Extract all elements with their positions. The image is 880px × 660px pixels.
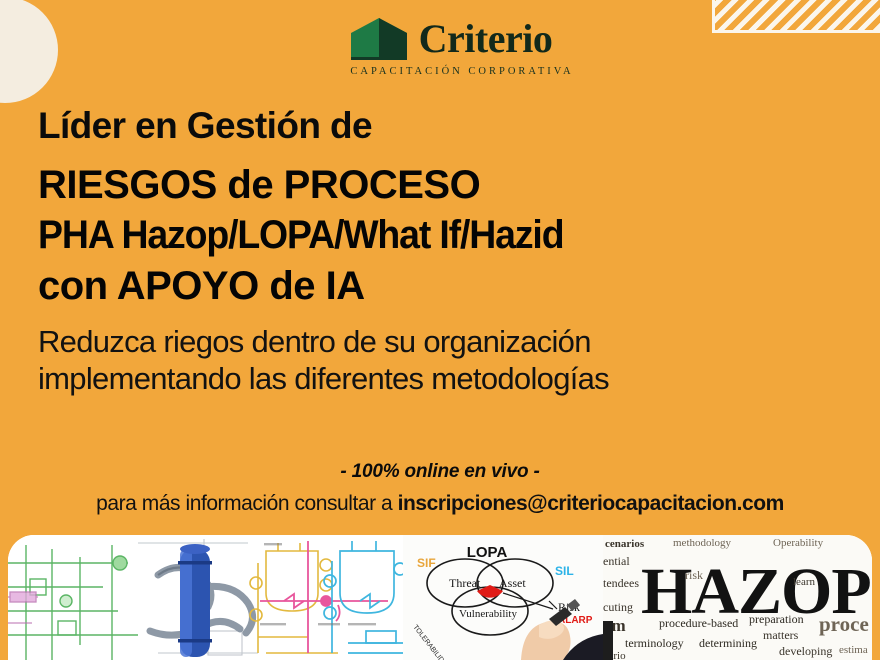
headline-main: RIESGOS de PROCESO PHA Hazop/LOPA/What I… [38, 160, 848, 312]
cloud-word-13: terminology [625, 636, 684, 650]
hazop-word-cloud-panel: cenarios methodology Operability ential … [603, 535, 872, 660]
headline-kicker: Líder en Gestión de [38, 104, 848, 148]
cloud-word-9: cuting [603, 600, 633, 614]
promo-text: - 100% online en vivo - [0, 461, 880, 483]
pid-diagram-panel [8, 535, 403, 660]
logo-tagline: CAPACITACIÓN CORPORATIVA [326, 66, 573, 77]
subcopy-line-1: Reduzca riegos dentro de su organización [38, 323, 848, 360]
contact-email[interactable]: inscripciones@criteriocapacitacion.com [398, 492, 784, 515]
cloud-word-2: Operability [773, 537, 824, 549]
contact-prefix: para más información consultar a [96, 492, 397, 515]
hazop-word-cloud-graphic: cenarios methodology Operability ential … [603, 535, 872, 660]
criterio-building-mark-icon [348, 16, 410, 62]
lopa-sif-label: SIF [417, 556, 436, 570]
lopa-venn-panel: LOPA Threat Asset Vulnerability SIF SIL … [403, 535, 603, 660]
lopa-vulnerability-label: Vulnerability [459, 608, 517, 620]
cloud-word-6: tendees [603, 576, 639, 590]
lopa-threat-label: Threat [449, 576, 481, 590]
cloud-word-14: determining [699, 636, 757, 650]
bottom-image-strip: LOPA Threat Asset Vulnerability SIF SIL … [8, 535, 872, 660]
cloud-word-4: risk [685, 568, 703, 582]
cloud-word-17: estima [839, 644, 868, 656]
headline-line-3: con APOYO de IA [38, 261, 848, 312]
cloud-word-11: proce [819, 612, 869, 636]
cloud-word-7: procedure-based [659, 616, 738, 630]
subcopy-line-2: implementando las diferentes metodología… [38, 360, 848, 397]
lopa-asset-label: Asset [499, 576, 526, 590]
headline-subcopy: Reduzca riegos dentro de su organización… [38, 323, 848, 397]
promotional-poster: Criterio CAPACITACIÓN CORPORATIVA Líder … [0, 0, 880, 660]
headline-line-1-text: RIESGOS de PROCESO [38, 163, 480, 207]
decorative-diagonal-stripes [712, 0, 880, 33]
logo-row: Criterio [348, 16, 553, 62]
cloud-word-3: ential [603, 554, 630, 568]
pid-diagram-graphic [8, 535, 403, 660]
decorative-circle [0, 0, 58, 103]
cloud-word-1: methodology [673, 537, 732, 549]
headline-line-2: PHA Hazop/LOPA/What If/Hazid [38, 210, 848, 261]
cloud-word-0: cenarios [605, 538, 645, 550]
cloud-word-5: learn [793, 576, 815, 588]
logo-wordmark: Criterio [419, 19, 553, 59]
brand-logo: Criterio CAPACITACIÓN CORPORATIVA [340, 16, 560, 77]
lopa-title: LOPA [467, 544, 508, 561]
cloud-word-8: preparation [749, 612, 804, 626]
lopa-venn-graphic: LOPA Threat Asset Vulnerability SIF SIL … [403, 535, 603, 660]
lopa-sil-label: SIL [555, 564, 574, 578]
headline-block: Líder en Gestión de RIESGOS de PROCESO P… [38, 104, 848, 397]
headline-line-1: RIESGOS de PROCESO [38, 160, 848, 211]
contact-line: para más información consultar a inscrip… [0, 492, 880, 516]
cloud-word-10: matters [763, 628, 799, 642]
cloud-word-16: developing [779, 644, 832, 658]
headline-line-2-text: PHA Hazop/LOPA/What If/Hazid [38, 210, 563, 261]
headline-line-3-text: con APOYO de IA [38, 264, 365, 308]
